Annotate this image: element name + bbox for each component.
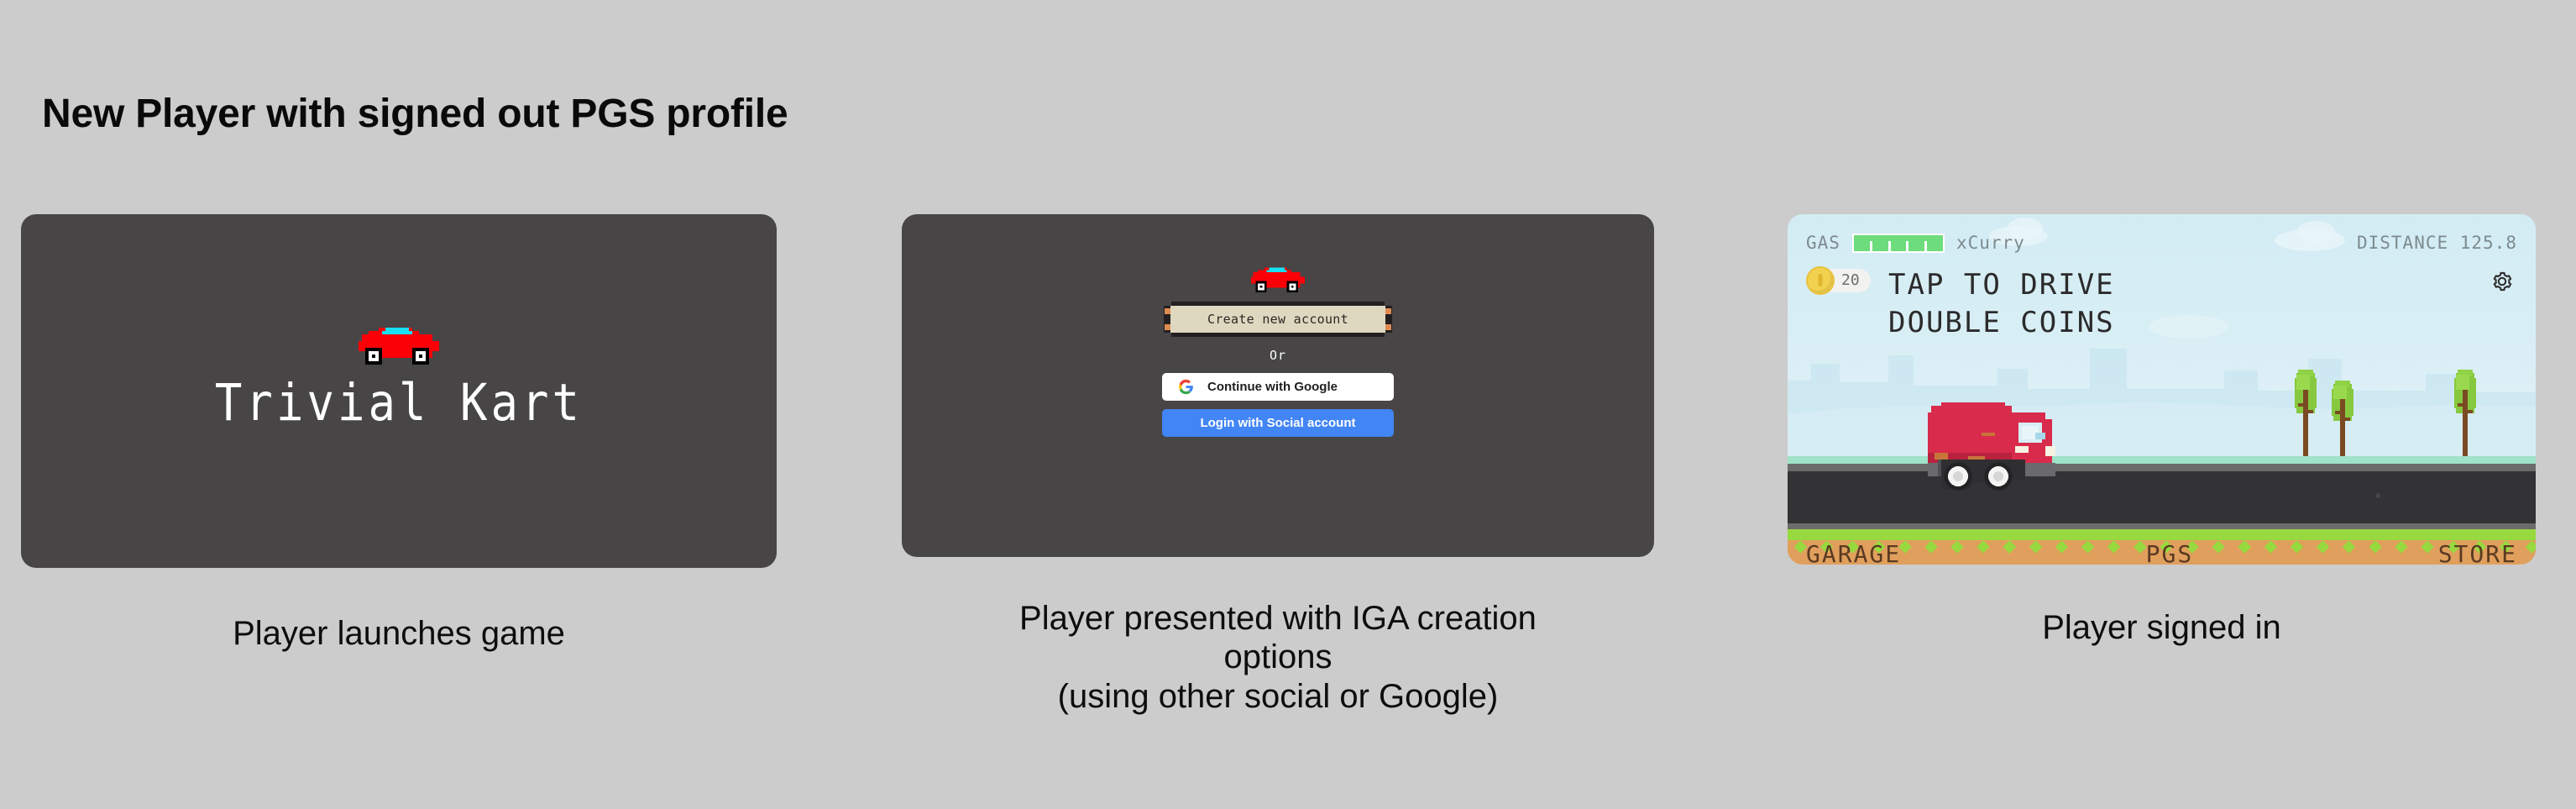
hud-top-row: GAS xCurry DISTANCE 125.8 — [1806, 233, 2517, 253]
continue-with-google-button[interactable]: Continue with Google — [1162, 373, 1394, 401]
step-iga-options: Create new account Or Continue with Goog… — [902, 214, 1654, 716]
splash-screen-panel: Trivial Kart — [21, 214, 777, 568]
button-peg-top-right — [1385, 308, 1391, 314]
city-skyline-silhouette — [1788, 330, 2536, 456]
button-peg-bottom-right — [1385, 324, 1391, 330]
nav-item-garage[interactable]: GARAGE — [1806, 540, 1901, 565]
tree-icon-3 — [2451, 370, 2479, 459]
button-face: Create new account — [1170, 306, 1385, 333]
cloud-5 — [2149, 315, 2229, 339]
gear-icon[interactable] — [2490, 270, 2514, 293]
auth-screen-panel: Create new account Or Continue with Goog… — [902, 214, 1654, 557]
step-player-signed-in: GAS xCurry DISTANCE 125.8 20 TAP TO DRIV… — [1788, 214, 2536, 647]
nav-item-pgs[interactable]: PGS — [2146, 540, 2194, 565]
step-caption-iga-options: Player presented with IGA creation optio… — [902, 599, 1654, 716]
google-g-icon — [1178, 379, 1194, 395]
page-title: New Player with signed out PGS profile — [42, 91, 788, 137]
step-caption-launch: Player launches game — [21, 614, 777, 653]
coin-icon — [1806, 266, 1835, 295]
bottom-navigation-bar: GARAGE PGS STORE — [1788, 544, 2536, 565]
distance-label: DISTANCE 125.8 — [2357, 233, 2517, 253]
road-surface — [1788, 471, 2536, 523]
step-caption-signed-in: Player signed in — [1788, 608, 2536, 647]
pixel-car-icon — [348, 321, 449, 368]
road-edge-top — [1788, 464, 2536, 471]
tree-icon-1 — [2291, 370, 2320, 459]
currency-label: xCurry — [1956, 233, 2025, 253]
coin-badge: 20 — [1806, 266, 1871, 295]
gas-gauge-ticks — [1854, 241, 1943, 251]
continue-with-google-label: Continue with Google — [1207, 380, 1338, 394]
game-screen-panel: GAS xCurry DISTANCE 125.8 20 TAP TO DRIV… — [1788, 214, 2536, 565]
pixel-truck-icon — [1924, 396, 2092, 493]
nav-item-store[interactable]: STORE — [2438, 540, 2517, 565]
login-with-social-account-button[interactable]: Login with Social account — [1162, 409, 1394, 437]
game-title: Trivial Kart — [215, 373, 583, 433]
road-verge — [1788, 456, 2536, 464]
create-new-account-label: Create new account — [1207, 312, 1348, 327]
button-peg-bottom-left — [1165, 324, 1170, 330]
step-launch-game: Trivial Kart Player launches game — [21, 214, 777, 653]
or-divider-label: Or — [1270, 348, 1286, 363]
button-frame-bottom — [1171, 333, 1385, 337]
road-speck — [2375, 493, 2380, 498]
create-new-account-button[interactable]: Create new account — [1161, 302, 1395, 337]
pixel-car-icon — [1244, 263, 1312, 295]
login-with-social-account-label: Login with Social account — [1200, 416, 1355, 430]
tree-icon-2 — [2328, 381, 2357, 460]
button-peg-top-left — [1165, 308, 1170, 314]
gas-label: GAS — [1806, 233, 1840, 253]
tap-to-drive-text: TAP TO DRIVE DOUBLE COINS — [1888, 266, 2115, 342]
road-edge-bottom — [1788, 523, 2536, 529]
gas-gauge — [1852, 234, 1945, 253]
